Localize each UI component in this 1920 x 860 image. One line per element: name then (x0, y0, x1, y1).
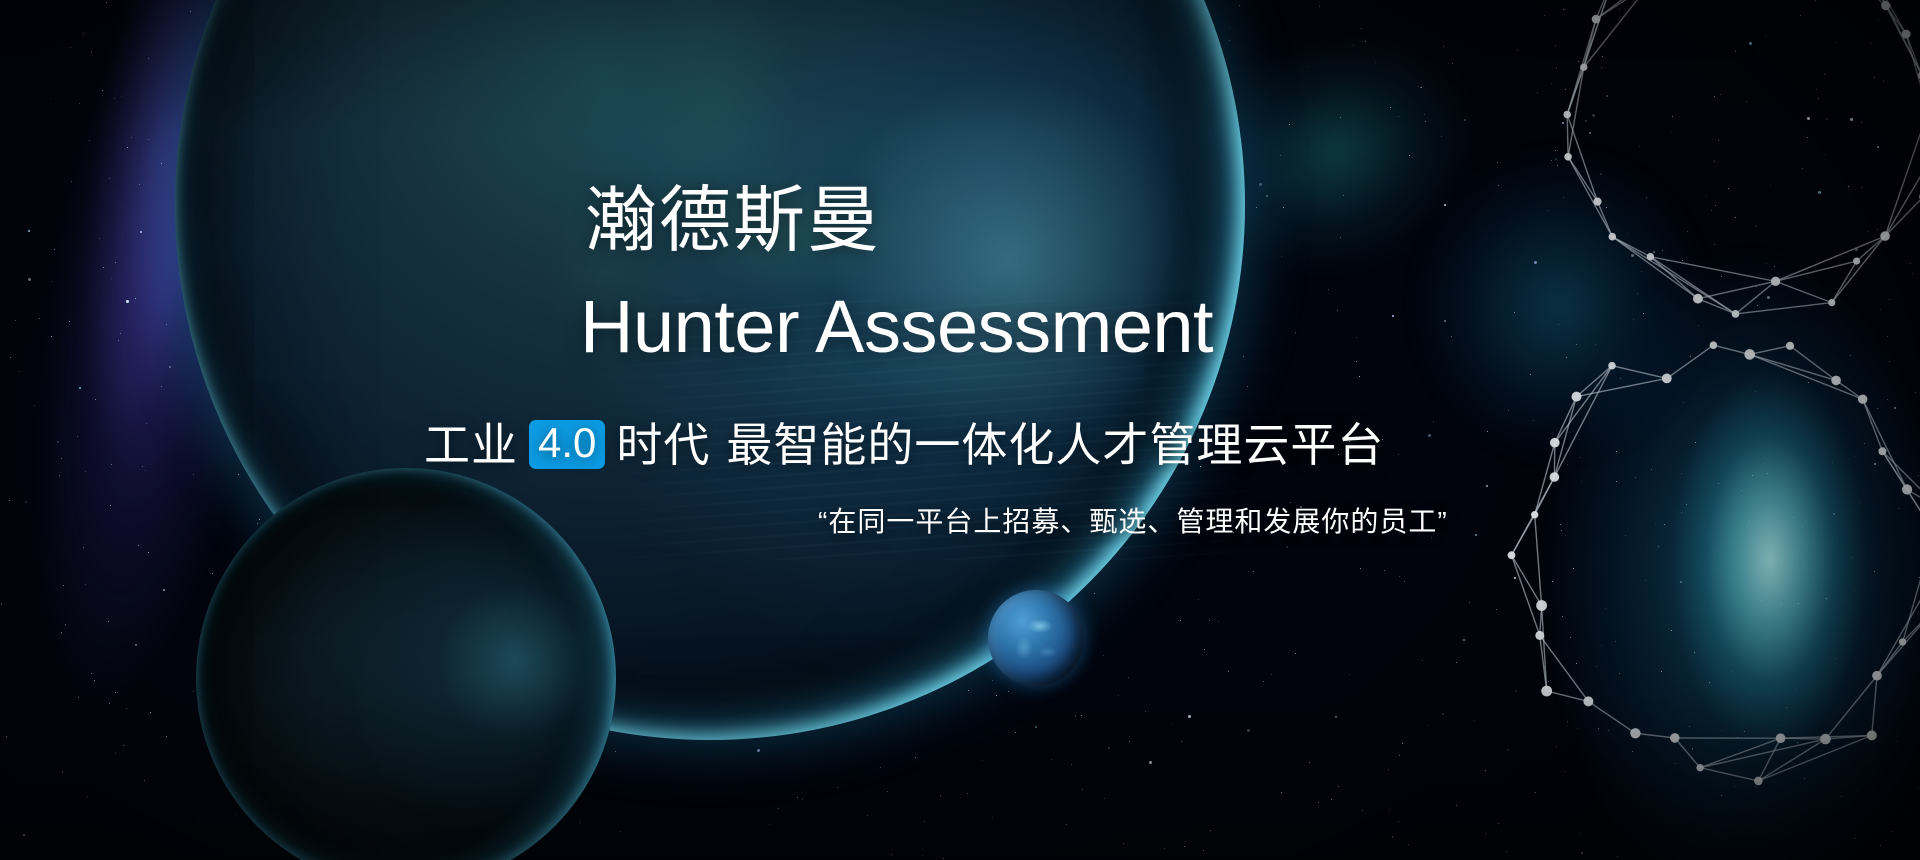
tagline-quote: “在同一平台上招募、甄选、管理和发展你的员工” (818, 508, 1448, 536)
tagline-part-3: 最智能的一体化人才管理云平台 (726, 422, 1384, 468)
hero-copy: 瀚德斯曼 Hunter Assessment 工业 4.0 时代 最智能的一体化… (0, 0, 1920, 860)
tagline-part-1: 工业 (424, 422, 518, 468)
page-title-chinese: 瀚德斯曼 (585, 185, 881, 257)
tagline: 工业 4.0 时代 最智能的一体化人才管理云平台 (424, 420, 1384, 469)
hero-banner: 瀚德斯曼 Hunter Assessment 工业 4.0 时代 最智能的一体化… (0, 0, 1920, 860)
tagline-part-2: 时代 (616, 422, 710, 468)
industry-version-badge: 4.0 (529, 420, 605, 469)
page-title-english: Hunter Assessment (580, 290, 1213, 364)
